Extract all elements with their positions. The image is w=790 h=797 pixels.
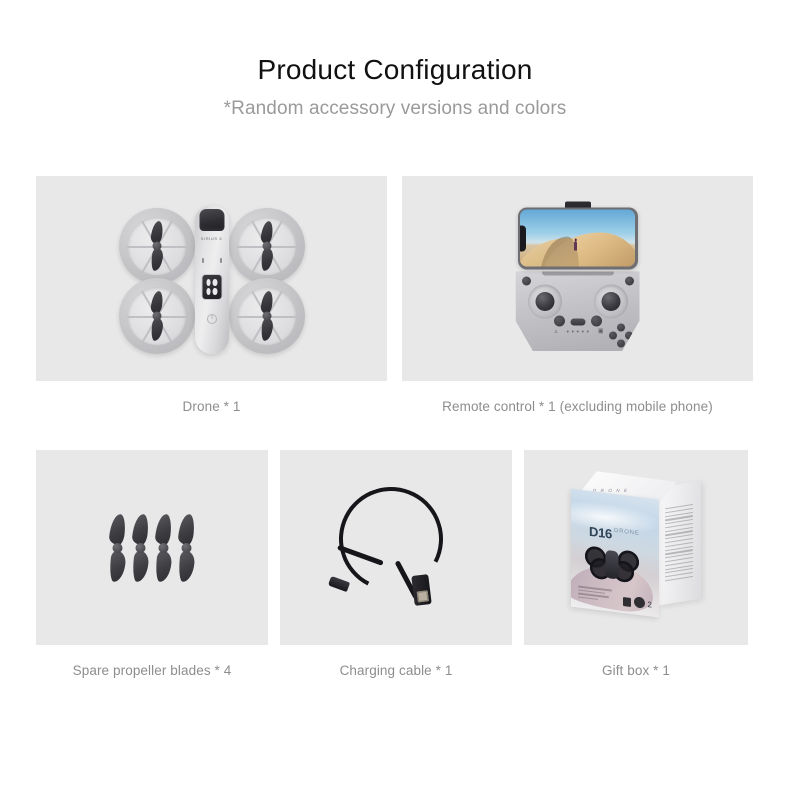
product-row-1: SIRIUS 6 Drone * 1: [36, 176, 754, 414]
propeller-blades-illustration: [36, 450, 268, 645]
shoulder-button-right: [625, 276, 634, 285]
gift-box-front-panel: D16DRONE 2: [571, 488, 659, 617]
product-item-charging-cable[interactable]: Charging cable * 1: [280, 450, 512, 678]
remote-control-illustration: ▵ ▣: [402, 176, 753, 381]
controller-center-button: [570, 318, 585, 325]
product-item-gift-box[interactable]: D R O N E D16DRONE: [524, 450, 748, 678]
controller-button-left: [554, 315, 565, 326]
photo-icon: ▣: [598, 328, 604, 334]
power-button-icon: [207, 314, 217, 324]
drone-illustration: SIRIUS 6: [36, 176, 387, 381]
controller-button-right: [591, 315, 602, 326]
drone-propeller-bottom-left: [153, 291, 161, 341]
phone-screen: [520, 210, 635, 267]
shoulder-button-left: [522, 276, 531, 285]
propeller-blade-2: [133, 514, 149, 582]
caption-spare-propeller-blades: Spare propeller blades * 4: [36, 663, 268, 678]
mobile-phone: [518, 207, 638, 269]
drone-duct-bottom-left: [119, 278, 195, 354]
led-indicators: [566, 330, 589, 333]
joystick-left: [528, 284, 562, 318]
gift-box-side-panel: [659, 480, 701, 605]
controller-body: ▵ ▣: [516, 271, 640, 351]
dpad-cluster: [609, 323, 633, 347]
product-item-drone[interactable]: SIRIUS 6 Drone * 1: [36, 176, 387, 414]
charging-cable-image-panel[interactable]: [280, 450, 512, 645]
product-item-remote-control[interactable]: ▵ ▣ Remote control * 1 (excluding mobile…: [402, 176, 753, 414]
drone-body: SIRIUS 6: [195, 206, 229, 354]
caption-charging-cable: Charging cable * 1: [280, 663, 512, 678]
antenna-icon: ▵: [555, 328, 558, 334]
drone-vents: [202, 258, 222, 263]
product-item-spare-propeller-blades[interactable]: Spare propeller blades * 4: [36, 450, 268, 678]
remote-control-image-panel[interactable]: ▵ ▣: [402, 176, 753, 381]
micro-usb-connector: [328, 575, 350, 591]
gift-box-image-panel[interactable]: D R O N E D16DRONE: [524, 450, 748, 645]
propeller-blade-3: [156, 514, 172, 582]
drone-duct-top-left: [119, 208, 195, 284]
drone-propeller-top-right: [263, 221, 271, 271]
gift-box-side-text: [665, 503, 693, 583]
drone-propeller-top-left: [153, 221, 161, 271]
drone-sensor-panel: [201, 274, 222, 300]
caption-remote-control: Remote control * 1 (excluding mobile pho…: [402, 399, 753, 414]
drone-image-panel[interactable]: SIRIUS 6: [36, 176, 387, 381]
caption-drone: Drone * 1: [36, 399, 387, 414]
drone-duct-top-right: [229, 208, 305, 284]
propeller-blade-1: [110, 514, 126, 582]
charging-cable-illustration: [280, 450, 512, 645]
propeller-blade-4: [179, 514, 195, 582]
gift-box-illustration: D R O N E D16DRONE: [524, 450, 748, 645]
drone-propeller-bottom-right: [263, 291, 271, 341]
hiker-figure: [574, 241, 577, 250]
drone-body-label: SIRIUS 6: [198, 236, 226, 241]
page-header: Product Configuration *Random accessory …: [0, 0, 790, 120]
usb-a-connector: [411, 574, 432, 606]
drone-camera-module: [199, 209, 224, 231]
joystick-right: [594, 284, 628, 318]
gift-box-title-text: D16: [589, 523, 612, 541]
gift-box-drone-image: [585, 545, 639, 584]
drone-duct-bottom-right: [229, 278, 305, 354]
product-row-2: Spare propeller blades * 4 Charging cabl…: [36, 450, 754, 678]
propeller-blades-image-panel[interactable]: [36, 450, 268, 645]
page-title: Product Configuration: [0, 54, 790, 86]
caption-gift-box: Gift box * 1: [524, 663, 748, 678]
phone-notch: [520, 225, 526, 251]
page-subtitle: *Random accessory versions and colors: [0, 98, 790, 120]
